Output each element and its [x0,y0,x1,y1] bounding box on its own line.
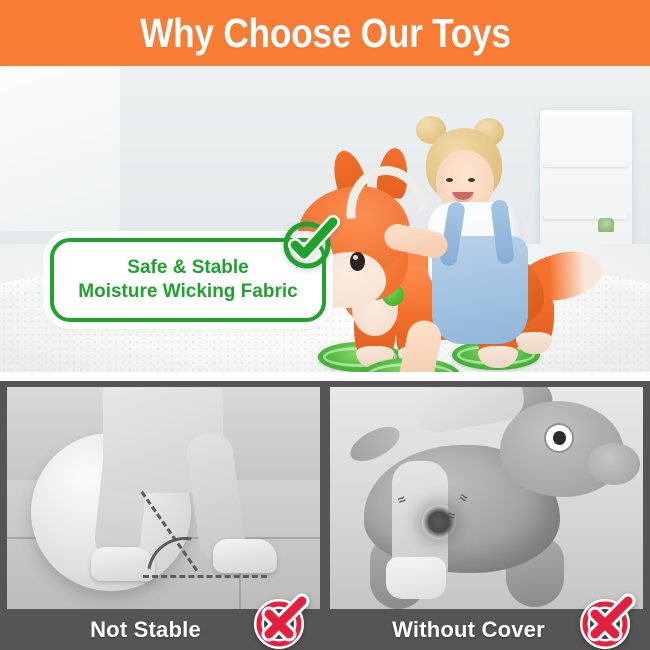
x-circle-icon [578,593,636,650]
photo-without-cover: ≈ ≈ ≈ [330,387,643,609]
denim-overalls [432,236,528,344]
leg [394,317,445,372]
baseline-dashed-line [143,575,267,578]
badge-line-2: Moisture Wicking Fabric [78,281,297,303]
label-text: Without Cover [392,617,545,643]
product-feature-poster: Why Choose Our Toys [0,0,650,650]
hero-image: Safe & Stable Moisture Wicking Fabric [0,66,650,372]
child-sock [386,557,446,599]
fox-eye [350,252,365,271]
header-banner: Why Choose Our Toys [0,0,650,66]
comparison-labels: Not Stable Without Cover [0,609,650,650]
irritation-marker [422,505,456,539]
hopper-eye [546,425,572,451]
hopper-snout [588,443,640,485]
x-circle-icon [252,593,310,650]
comparison-panel-without-cover: ≈ ≈ ≈ [330,387,643,609]
page-title: Why Choose Our Toys [140,13,511,54]
badge-line-1: Safe & Stable [127,257,248,279]
comparison-section: ≈ ≈ ≈ Not Stable With [0,381,650,650]
label-text: Not Stable [90,617,201,643]
child-rider [392,124,582,372]
plant-decor [598,218,614,232]
window-light [0,66,120,231]
check-circle-icon [278,212,340,274]
comparison-panel-not-stable [7,387,320,609]
photo-not-stable [7,387,320,609]
